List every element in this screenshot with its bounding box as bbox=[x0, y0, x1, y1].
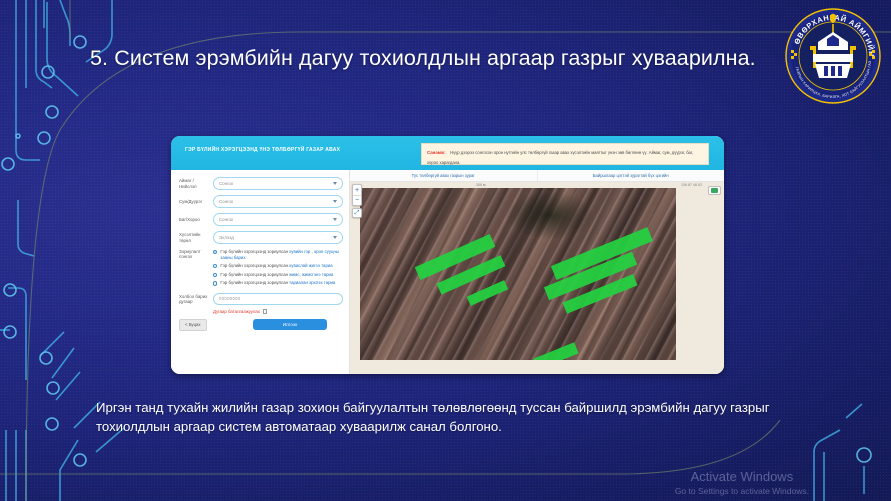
label-district: Сум/Дүүрэг bbox=[179, 199, 213, 204]
chevron-down-icon bbox=[333, 200, 337, 203]
radio-icon bbox=[213, 273, 217, 277]
map-coordinates: 106.87 46.92 bbox=[681, 183, 702, 187]
app-header: ГЭР БҮЛИЙН ХЭРЭГЦЭЭНД ҮНЭ ТӨЛБӨРГҮЙ ГАЗА… bbox=[171, 136, 724, 170]
radio-option-3[interactable]: Гэр бүлийн хэрэгцээнд зориулсан жимс, жи… bbox=[213, 272, 343, 278]
map-canvas[interactable]: 100 м 106.87 46.92 + − ⤢ bbox=[350, 182, 724, 374]
radio-icon bbox=[213, 264, 217, 268]
windows-activation-watermark: Activate Windows Go to Settings to activ… bbox=[675, 469, 809, 499]
chevron-down-icon bbox=[333, 182, 337, 185]
radio-3-highlight: жимс, жимсгэнэ тариа bbox=[289, 272, 333, 277]
presentation-slide: 5. Систем эрэмбийн дагуу тохиолдлын арга… bbox=[0, 0, 891, 501]
notice-label: Санамж: bbox=[427, 150, 446, 155]
province-select[interactable]: Сонгох bbox=[213, 177, 343, 190]
form-row-district: Сум/Дүүрэг Сонгох bbox=[179, 195, 343, 208]
confirm-number-row[interactable]: Дугаар баталгаажуулах bbox=[213, 309, 343, 314]
back-button[interactable]: < Буцах bbox=[179, 319, 207, 331]
map-pane: Тус төлбөргүй авах газрын зураг Байршлаа… bbox=[349, 170, 724, 374]
watermark-line2: Go to Settings to activate Windows. bbox=[675, 484, 809, 499]
form-row-province: Аймаг / Нийслэл Сонгох bbox=[179, 177, 343, 190]
label-phone: Холбоо барих дугаар bbox=[179, 294, 213, 305]
khoroo-select-value: Сонгох bbox=[219, 217, 233, 222]
submit-button[interactable]: Илгээх bbox=[253, 319, 327, 330]
layer-toggle-icon[interactable] bbox=[708, 186, 721, 195]
radio-option-2[interactable]: Гэр бүлийн хэрэгцээнд зориулсан хуваслай… bbox=[213, 263, 343, 269]
label-khoroo: Баг/Хороо bbox=[179, 217, 213, 222]
purpose-radio-group: Зориулалт сонгох Гэр бүлийн хэрэгцээнд з… bbox=[179, 249, 343, 289]
watermark-line1: Activate Windows bbox=[675, 469, 809, 484]
map-tabs: Тус төлбөргүй авах газрын зураг Байршлаа… bbox=[350, 170, 724, 182]
province-select-value: Сонгох bbox=[219, 181, 233, 186]
radio-3-prefix: Гэр бүлийн хэрэгцээнд зориулсан bbox=[220, 272, 289, 277]
contact-section: Холбоо барих дугаар 00000000 Дугаар бата… bbox=[179, 293, 343, 331]
notice-text: Нүүр дээрээ сонгосон орон нутгийн улс тө… bbox=[427, 150, 693, 165]
form-pane: Аймаг / Нийслэл Сонгох Сум/Дүүрэг Сонгох… bbox=[171, 170, 349, 374]
slide-caption: Иргэн танд тухайн жилийн газар зохион ба… bbox=[96, 398, 826, 436]
radio-4-prefix: Гэр бүлийн хэрэгцээнд зориулсан bbox=[220, 280, 289, 285]
label-purpose: Зориулалт сонгох bbox=[179, 249, 213, 289]
notice-box: Санамж: Нүүр дээрээ сонгосон орон нутгий… bbox=[421, 143, 709, 165]
map-tab-2[interactable]: Байршлаар цэгтэй зурагтай бүх цэгийн bbox=[537, 170, 725, 181]
radio-4-highlight: тариалан эрхлэх тариа bbox=[289, 280, 335, 285]
confirm-number-label: Дугаар баталгаажуулах bbox=[213, 309, 260, 314]
application-screenshot: ГЭР БҮЛИЙН ХЭРЭГЦЭЭНД ҮНЭ ТӨЛБӨРГҮЙ ГАЗА… bbox=[171, 136, 724, 374]
map-tab-1[interactable]: Тус төлбөргүй авах газрын зураг bbox=[350, 170, 537, 181]
label-province: Аймаг / Нийслэл bbox=[179, 178, 213, 189]
radio-option-4[interactable]: Гэр бүлийн хэрэгцээнд зориулсан тариалан… bbox=[213, 280, 343, 286]
radio-icon bbox=[213, 281, 217, 285]
label-request-type: Хүсэлтийн төрөл bbox=[179, 232, 213, 243]
radio-1-prefix: Гэр бүлийн хэрэгцээнд зориулсан bbox=[220, 249, 289, 254]
request-type-select[interactable]: Эхлээд bbox=[213, 231, 343, 244]
zoom-out-icon[interactable]: − bbox=[353, 195, 361, 205]
app-header-title: ГЭР БҮЛИЙН ХЭРЭГЦЭЭНД ҮНЭ ТӨЛБӨРГҮЙ ГАЗА… bbox=[185, 147, 340, 153]
logo: ӨВӨРХАНГАЙ АЙМГИЙН ГАЗРЫН ХАРИЛЦАА, БАРИ… bbox=[783, 6, 883, 106]
radio-2-prefix: Гэр бүлийн хэрэгцээнд зориулсан bbox=[220, 263, 289, 268]
district-select-value: Сонгох bbox=[219, 199, 233, 204]
chevron-down-icon bbox=[333, 236, 337, 239]
request-type-select-value: Эхлээд bbox=[219, 235, 234, 240]
aerial-imagery[interactable] bbox=[360, 188, 676, 360]
fullscreen-icon[interactable]: ⤢ bbox=[352, 208, 362, 218]
phone-input-value: 00000000 bbox=[219, 296, 241, 301]
form-buttons: < Буцах Илгээх bbox=[179, 319, 343, 331]
zoom-in-icon[interactable]: + bbox=[353, 185, 361, 195]
form-row-request-type: Хүсэлтийн төрөл Эхлээд bbox=[179, 231, 343, 244]
form-row-khoroo: Баг/Хороо Сонгох bbox=[179, 213, 343, 226]
checkbox-icon[interactable] bbox=[263, 309, 268, 314]
page-title: 5. Систем эрэмбийн дагуу тохиолдлын арга… bbox=[90, 44, 790, 72]
radio-2-highlight: хуваслай жигээ тариа bbox=[289, 263, 332, 268]
map-zoom-controls[interactable]: + − bbox=[352, 184, 362, 206]
chevron-down-icon bbox=[333, 218, 337, 221]
district-select[interactable]: Сонгох bbox=[213, 195, 343, 208]
khoroo-select[interactable]: Сонгох bbox=[213, 213, 343, 226]
app-body: Аймаг / Нийслэл Сонгох Сум/Дүүрэг Сонгох… bbox=[171, 170, 724, 374]
phone-row: Холбоо барих дугаар 00000000 bbox=[179, 293, 343, 305]
radio-icon-selected bbox=[213, 250, 217, 254]
radio-option-1[interactable]: Гэр бүлийн хэрэгцээнд зориулсан хувийн г… bbox=[213, 249, 343, 260]
map-scalebar: 100 м bbox=[476, 183, 485, 187]
phone-input[interactable]: 00000000 bbox=[213, 293, 343, 305]
